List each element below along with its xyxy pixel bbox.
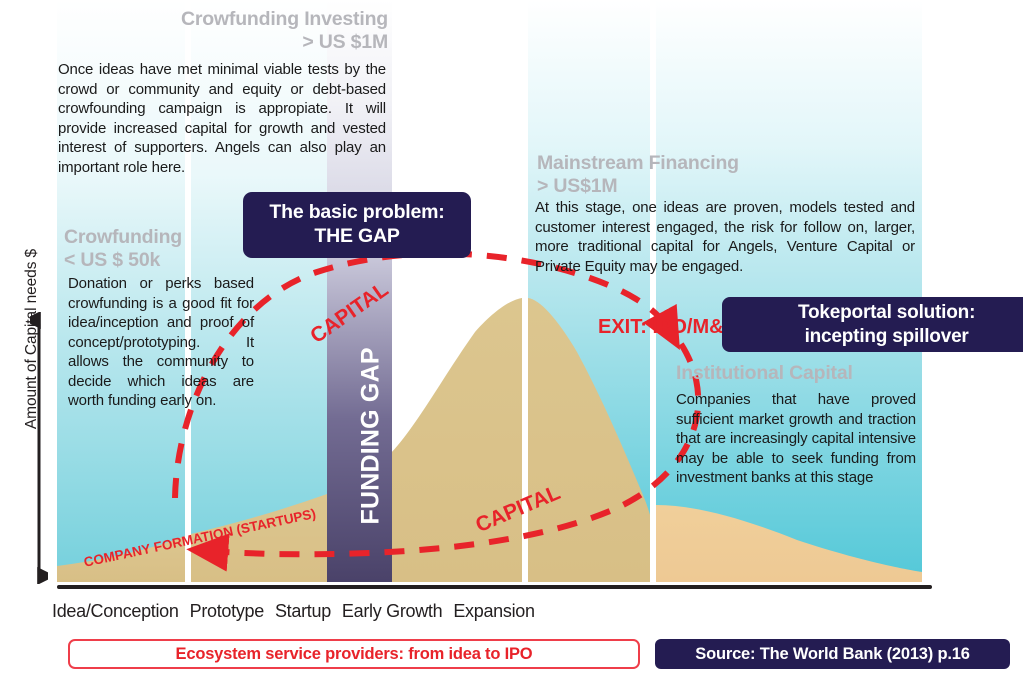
mainstream-financing-heading: Mainstream Financing > US$1M (537, 152, 867, 197)
mainstream-financing-heading-line2: > US$1M (537, 175, 867, 198)
tokeportal-solution-callout: Tokeportal solution: incepting spillover (722, 297, 1023, 352)
infographic-root: FUNDING GAP CAPITAL CAPITAL COMPANY FORM… (0, 0, 1023, 682)
x-tick-expansion: Expansion (453, 601, 534, 621)
mainstream-financing-body: At this stage, one ideas are proven, mod… (535, 198, 915, 276)
plot-right-margin (922, 0, 1023, 582)
ecosystem-service-providers-banner: Ecosystem service providers: from idea t… (68, 639, 640, 669)
funding-gap-label: FUNDING GAP (357, 365, 386, 525)
basic-problem-line1: The basic problem: (269, 201, 444, 223)
x-tick-startup: Startup (275, 601, 331, 621)
basic-problem-line2: THE GAP (269, 225, 444, 249)
exit-ipo-label: EXIT: IPO/M&A (598, 316, 738, 339)
crowdfunding-investing-heading-line1: Crowfunding Investing (176, 8, 388, 31)
x-tick-early-growth: Early Growth (342, 601, 442, 621)
x-axis-tick-labels: Idea/ConceptionPrototypeStartupEarly Gro… (52, 601, 692, 622)
crowdfunding-investing-body: Once ideas have met minimal viable tests… (58, 60, 386, 177)
tokeportal-line2: incepting spillover (798, 325, 975, 348)
institutional-capital-heading-line1: Institutional Capital (676, 362, 1006, 385)
institutional-capital-heading: Institutional Capital (676, 362, 1006, 385)
x-tick-prototype: Prototype (190, 601, 264, 621)
x-axis-line (57, 585, 932, 589)
crowdfunding-investing-heading: Crowfunding Investing > US $1M (176, 8, 388, 53)
crowdfunding-investing-heading-line2: > US $1M (176, 31, 388, 54)
mainstream-financing-heading-line1: Mainstream Financing (537, 152, 867, 175)
x-tick-idea-conception: Idea/Conception (52, 601, 179, 621)
institutional-capital-body: Companies that have proved sufficient ma… (676, 390, 916, 488)
tokeportal-line1: Tokeportal solution: (798, 302, 975, 323)
crowdfunding-body: Donation or perks based crowfunding is a… (68, 274, 254, 411)
basic-problem-callout: The basic problem: THE GAP (243, 192, 471, 258)
y-axis-title: Amount of Capital needs $ (23, 209, 41, 469)
source-credit-badge: Source: The World Bank (2013) p.16 (655, 639, 1010, 669)
